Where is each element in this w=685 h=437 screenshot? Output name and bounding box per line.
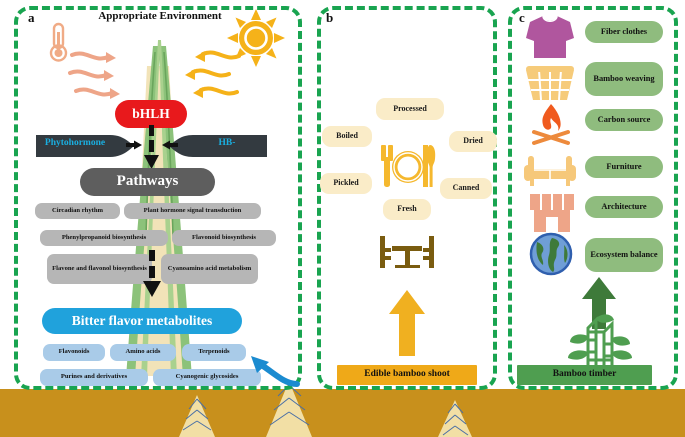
panel-b-label: b [326, 10, 333, 26]
metabolite-box-flavonoids[interactable]: Flavonoids [43, 344, 105, 361]
heat-arrows-icon [68, 47, 148, 102]
pathway-box-flavonoid-biosynthesis[interactable]: Flavonoid biosynthesis [172, 230, 276, 246]
figure-root: a Appropriate Environment [0, 0, 685, 437]
globe-icon [530, 233, 572, 275]
light-arrows-icon [165, 48, 245, 106]
phytohormone-label: Phytohormone [38, 138, 112, 148]
pathway-box-flavone-flavonol-biosynthesis[interactable]: Flavone and flavonol biosynthesis [47, 254, 152, 284]
storefront-icon [530, 190, 574, 232]
panel-c-label: c [519, 10, 525, 26]
bamboo-timber-banner[interactable]: Bamboo timber [517, 365, 652, 385]
dining-table-icon [379, 236, 435, 270]
blue-curved-arrow-icon [243, 344, 301, 388]
pathway-box-cyanoamino-acid-metabolism[interactable]: Cyanoamino acid metabolism [161, 254, 258, 284]
sofa-icon [524, 153, 576, 187]
up-arrow-icon-b [389, 290, 425, 356]
use-box-bamboo-weaving[interactable]: Bamboo weaving [585, 62, 663, 96]
basket-icon [526, 62, 574, 102]
down-arrow-icon [142, 250, 162, 302]
hb-label: HB- [192, 138, 262, 148]
panel-a-label: a [28, 10, 35, 26]
metabolite-box-purines-and-derivatives[interactable]: Purines and derivatives [40, 369, 148, 386]
metabolite-box-amino-acids[interactable]: Amino acids [110, 344, 176, 361]
pathway-box-circadian-rhythm[interactable]: Circadian rhythm [35, 203, 120, 219]
use-box-fresh[interactable]: Fresh [383, 199, 431, 220]
use-box-canned[interactable]: Canned [440, 178, 492, 199]
use-box-pickled[interactable]: Pickled [320, 173, 372, 194]
metabolite-box-terpenoids[interactable]: Terpenoids [182, 344, 246, 361]
bamboo-culm-icon [560, 308, 638, 370]
use-box-processed[interactable]: Processed [376, 98, 444, 120]
shirt-icon [526, 14, 574, 58]
panel-a-title: Appropriate Environment [75, 10, 245, 22]
use-box-boiled[interactable]: Boiled [322, 126, 372, 147]
plate-cutlery-icon [379, 143, 437, 189]
use-box-fiber-clothes[interactable]: Fiber clothes [585, 21, 663, 43]
use-box-furniture[interactable]: Furniture [585, 156, 663, 178]
pathways-node[interactable]: Pathways [80, 168, 215, 196]
use-box-architecture[interactable]: Architecture [585, 196, 663, 218]
pathway-box-phenylpropanoid-biosynthesis[interactable]: Phenylpropanoid biosynthesis [40, 230, 168, 246]
use-box-ecosystem-balance[interactable]: Ecosystem balance [585, 238, 663, 272]
campfire-icon [530, 104, 572, 146]
use-box-carbon-source[interactable]: Carbon source [585, 109, 663, 131]
use-box-dried[interactable]: Dried [449, 131, 497, 152]
edible-bamboo-shoot-banner[interactable]: Edible bamboo shoot [337, 365, 477, 385]
convergence-arrows-icon [126, 125, 178, 173]
pathway-box-plant-hormone-signal-transduction[interactable]: Plant hormone signal transduction [124, 203, 261, 219]
bhlh-node[interactable]: bHLH [115, 100, 187, 128]
bitter-flavor-metabolites-node[interactable]: Bitter flavor metabolites [42, 308, 242, 334]
